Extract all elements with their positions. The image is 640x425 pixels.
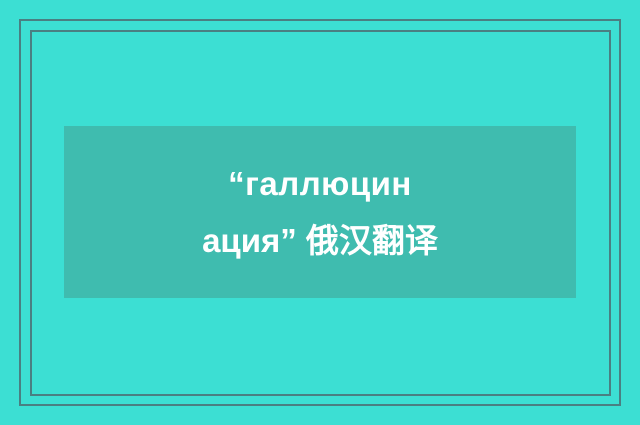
image-canvas: “галлюцин ация” 俄汉翻译 — [0, 0, 640, 425]
title-line-2: ация” 俄汉翻译 — [64, 212, 576, 269]
title-line-1: “галлюцин — [64, 155, 576, 212]
title-text-block: “галлюцин ация” 俄汉翻译 — [64, 155, 576, 269]
title-panel: “галлюцин ация” 俄汉翻译 — [64, 126, 576, 298]
